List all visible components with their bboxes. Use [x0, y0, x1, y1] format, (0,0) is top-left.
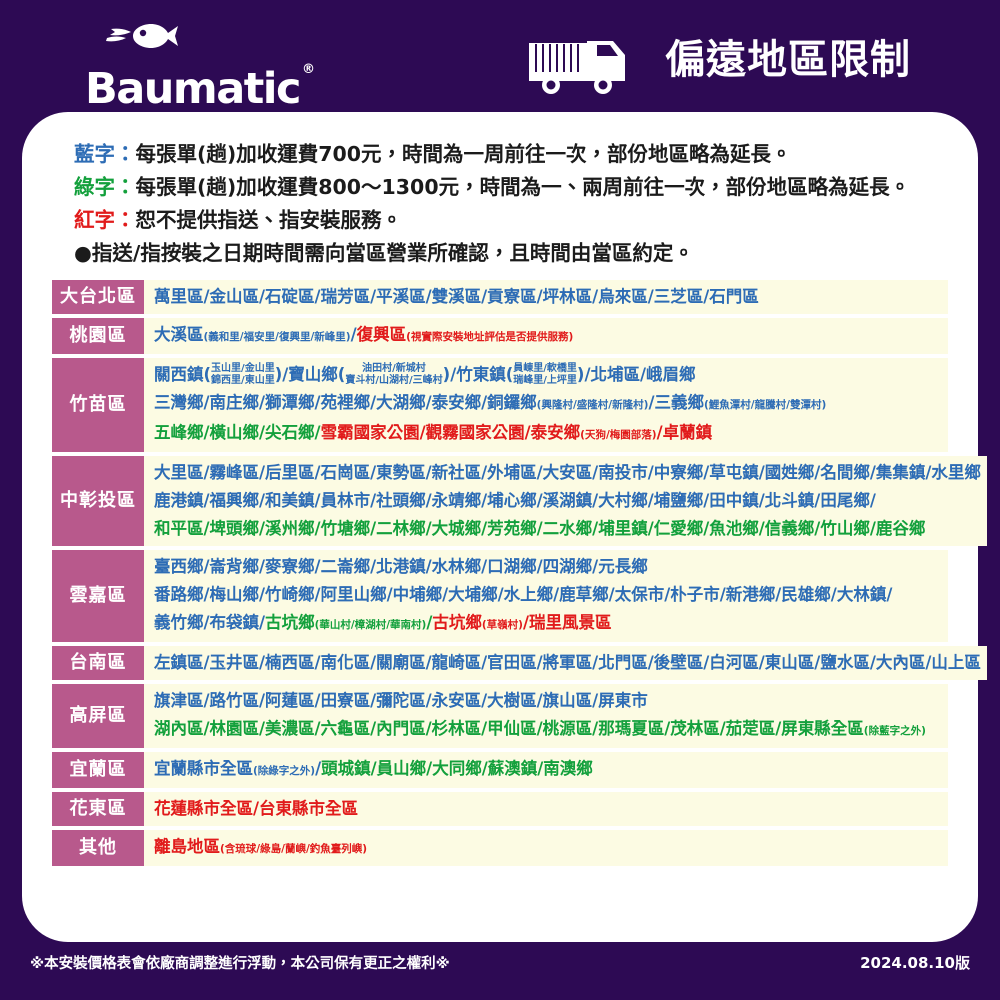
table-row: 大台北區萬里區/金山區/石碇區/瑞芳區/平溪區/雙溪區/貢寮區/坪林區/烏來區/… — [52, 280, 948, 314]
region-label: 桃園區 — [52, 318, 144, 354]
area-names: 義竹鄉/布袋鎮/ — [154, 613, 265, 632]
area-names: 雪霸國家公園/觀霧國家公園/泰安鄉 — [321, 423, 581, 442]
area-line: 和平區/埤頭鄉/溪州鄉/竹塘鄉/二林鄉/大城鄉/芳苑鄉/二水鄉/埔里鎮/仁愛鄉/… — [154, 515, 981, 543]
area-line: 三灣鄉/南庄鄉/獅潭鄉/苑裡鄉/大湖鄉/泰安鄉/銅鑼鄉(興隆村/盛隆村/新隆村)… — [154, 389, 942, 419]
area-note: (興隆村/盛隆村/新隆村) — [537, 399, 649, 411]
village-stack: 員崠里/軟橋里瑞峰里/上坪里 — [513, 363, 577, 386]
region-areas: 萬里區/金山區/石碇區/瑞芳區/平溪區/雙溪區/貢寮區/坪林區/烏來區/三芝區/… — [144, 280, 948, 314]
legend-key: 紅字： — [74, 208, 136, 232]
legend-block: 藍字：每張單(趟)加收運費700元，時間為一周前往一次，部份地區略為延長。綠字：… — [52, 128, 948, 272]
area-line: 臺西鄉/崙背鄉/麥寮鄉/二崙鄉/北港鎮/水林鄉/口湖鄉/四湖鄉/元長鄉 — [154, 553, 942, 581]
legend-line-3: 紅字：恕不提供指送、指安裝服務。 — [74, 204, 948, 237]
legend-line-2: 綠字：每張單(趟)加收運費800～1300元，時間為一、兩周前往一次，部份地區略… — [74, 171, 948, 204]
header-bar: Baumatic ® — [0, 0, 1000, 118]
region-areas: 左鎮區/玉井區/楠西區/南化區/關廟區/龍崎區/官田區/將軍區/北門區/後壁區/… — [144, 646, 987, 680]
region-table: 大台北區萬里區/金山區/石碇區/瑞芳區/平溪區/雙溪區/貢寮區/坪林區/烏來區/… — [52, 280, 948, 866]
area-names: 宜蘭縣市全區 — [154, 759, 253, 778]
legend-key: 藍字： — [74, 142, 136, 166]
area-line: 義竹鄉/布袋鎮/古坑鄉(華山村/樟湖村/華南村)/古坑鄉(草嶺村)/瑞里風景區 — [154, 609, 942, 639]
area-line: 離島地區(含琉球/綠島/蘭嶼/釣魚臺列嶼) — [154, 833, 942, 863]
legend-text: 指送/指按裝之日期時間需向當區營業所確認，且時間由當區約定。 — [92, 241, 694, 265]
area-names: 大里區/霧峰區/后里區/石崗區/東勢區/新社區/外埔區/大安區/南投市/中寮鄉/… — [154, 463, 981, 482]
legend-line-4: ●指送/指按裝之日期時間需向當區營業所確認，且時間由當區約定。 — [74, 237, 948, 270]
village-stack-bottom: 瑞峰里/上坪里 — [513, 375, 577, 387]
fish-icon — [93, 22, 315, 48]
region-label: 大台北區 — [52, 280, 144, 314]
village-stack-bottom: 寶斗村/山湖村/三峰村 — [345, 375, 442, 387]
area-names: 花蓮縣市全區/台東縣市全區 — [154, 799, 358, 818]
table-row: 高屏區旗津區/路竹區/阿蓮區/田寮區/彌陀區/永安區/大樹區/旗山區/屏東市湖內… — [52, 684, 948, 748]
area-line: 大里區/霧峰區/后里區/石崗區/東勢區/新社區/外埔區/大安區/南投市/中寮鄉/… — [154, 459, 981, 487]
area-names: 番路鄉/梅山鄉/竹崎鄉/阿里山鄉/中埔鄉/大埔鄉/水上鄉/鹿草鄉/太保市/朴子市… — [154, 585, 892, 604]
village-stack-bottom: 錦西里/東山里 — [211, 375, 275, 387]
area-names: /三義鄉 — [648, 393, 704, 412]
area-names: 三灣鄉/南庄鄉/獅潭鄉/苑裡鄉/大湖鄉/泰安鄉/銅鑼鄉 — [154, 393, 537, 412]
area-names: 古坑鄉 — [432, 613, 482, 632]
region-label: 中彰投區 — [52, 456, 144, 546]
legend-key: ● — [74, 241, 92, 265]
paren-open: ( — [204, 365, 212, 384]
area-names: /卓蘭鎮 — [657, 423, 713, 442]
region-areas: 宜蘭縣市全區(除綠字之外)/頭城鎮/員山鄉/大同鄉/蘇澳鎮/南澳鄉 — [144, 752, 948, 788]
village-stack-top: 玉山里/金山里 — [211, 363, 275, 375]
region-areas: 大溪區(義和里/福安里/復興里/新峰里)/復興區(視實際安裝地址評估是否提供服務… — [144, 318, 948, 354]
area-line: 宜蘭縣市全區(除綠字之外)/頭城鎮/員山鄉/大同鄉/蘇澳鎮/南澳鄉 — [154, 755, 942, 785]
village-stack: 玉山里/金山里錦西里/東山里 — [211, 363, 275, 386]
area-note: (除藍字之外) — [864, 725, 926, 737]
area-note: (含琉球/綠島/蘭嶼/釣魚臺列嶼) — [220, 843, 367, 855]
legend-text: 每張單(趟)加收運費700元，時間為一周前往一次，部份地區略為延長。 — [136, 142, 792, 166]
area-names: /瑞里風景區 — [523, 613, 612, 632]
area-names: 左鎮區/玉井區/楠西區/南化區/關廟區/龍崎區/官田區/將軍區/北門區/後壁區/… — [154, 653, 981, 672]
area-names: 和平區/埤頭鄉/溪州鄉/竹塘鄉/二林鄉/大城鄉/芳苑鄉/二水鄉/埔里鎮/仁愛鄉/… — [154, 519, 925, 538]
area-names: /竹東鎮 — [450, 365, 506, 384]
table-row: 花東區花蓮縣市全區/台東縣市全區 — [52, 792, 948, 826]
table-row: 中彰投區大里區/霧峰區/后里區/石崗區/東勢區/新社區/外埔區/大安區/南投市/… — [52, 456, 948, 546]
area-names: 離島地區 — [154, 837, 220, 856]
area-line: 大溪區(義和里/福安里/復興里/新峰里)/復興區(視實際安裝地址評估是否提供服務… — [154, 321, 942, 351]
footer-note: ※本安裝價格表會依廠商調整進行浮動，本公司保有更正之權利※ — [30, 952, 450, 973]
area-names: 臺西鄉/崙背鄉/麥寮鄉/二崙鄉/北港鎮/水林鄉/口湖鄉/四湖鄉/元長鄉 — [154, 557, 648, 576]
area-line: 旗津區/路竹區/阿蓮區/田寮區/彌陀區/永安區/大樹區/旗山區/屏東市 — [154, 687, 942, 715]
area-note: (天狗/梅園部落) — [580, 429, 656, 441]
region-label: 台南區 — [52, 646, 144, 680]
region-areas: 旗津區/路竹區/阿蓮區/田寮區/彌陀區/永安區/大樹區/旗山區/屏東市湖內區/林… — [144, 684, 948, 748]
region-areas: 大里區/霧峰區/后里區/石崗區/東勢區/新社區/外埔區/大安區/南投市/中寮鄉/… — [144, 456, 987, 546]
area-line: 鹿港鎮/福興鄉/和美鎮/員林市/社頭鄉/永靖鄉/埔心鄉/溪湖鎮/大村鄉/埔鹽鄉/… — [154, 487, 981, 515]
area-names: 鹿港鎮/福興鄉/和美鎮/員林市/社頭鄉/永靖鄉/埔心鄉/溪湖鎮/大村鄉/埔鹽鄉/… — [154, 491, 876, 510]
area-note: (義和里/福安里/復興里/新峰里) — [204, 331, 351, 343]
region-label: 高屏區 — [52, 684, 144, 748]
area-line: 五峰鄉/橫山鄉/尖石鄉/雪霸國家公園/觀霧國家公園/泰安鄉(天狗/梅園部落)/卓… — [154, 419, 942, 449]
area-note: (視實際安裝地址評估是否提供服務) — [406, 331, 573, 343]
area-line: 左鎮區/玉井區/楠西區/南化區/關廟區/龍崎區/官田區/將軍區/北門區/後壁區/… — [154, 649, 981, 677]
area-names: 旗津區/路竹區/阿蓮區/田寮區/彌陀區/永安區/大樹區/旗山區/屏東市 — [154, 691, 648, 710]
area-line: 關西鎮(玉山里/金山里錦西里/東山里)/寶山鄉(油田村/新城村寶斗村/山湖村/三… — [154, 361, 942, 389]
page-title: 偏遠地區限制 — [665, 36, 911, 84]
area-note: (草嶺村) — [482, 619, 523, 631]
area-names: /寶山鄉 — [282, 365, 338, 384]
area-note: (除綠字之外) — [253, 765, 315, 777]
region-label: 其他 — [52, 830, 144, 866]
area-names: 大溪區 — [154, 325, 204, 344]
area-note: (華山村/樟湖村/華南村) — [315, 619, 427, 631]
table-row: 桃園區大溪區(義和里/福安里/復興里/新峰里)/復興區(視實際安裝地址評估是否提… — [52, 318, 948, 354]
area-line: 花蓮縣市全區/台東縣市全區 — [154, 795, 942, 823]
brand-name: Baumatic — [85, 67, 300, 111]
area-line: 湖內區/林園區/美濃區/六龜區/內門區/杉林區/甲仙區/桃源區/那瑪夏區/茂林區… — [154, 715, 942, 745]
region-areas: 臺西鄉/崙背鄉/麥寮鄉/二崙鄉/北港鎮/水林鄉/口湖鄉/四湖鄉/元長鄉番路鄉/梅… — [144, 550, 948, 642]
area-names: 湖內區/林園區/美濃區/六龜區/內門區/杉林區/甲仙區/桃源區/那瑪夏區/茂林區… — [154, 719, 864, 738]
region-areas: 離島地區(含琉球/綠島/蘭嶼/釣魚臺列嶼) — [144, 830, 948, 866]
legend-text: 每張單(趟)加收運費800～1300元，時間為一、兩周前往一次，部份地區略為延長… — [136, 175, 911, 199]
area-names: /北埔區/峨眉鄉 — [584, 365, 695, 384]
area-names: 關西鎮 — [154, 365, 204, 384]
footer-bar: ※本安裝價格表會依廠商調整進行浮動，本公司保有更正之權利※ 2024.08.10… — [0, 952, 1000, 973]
table-row: 台南區左鎮區/玉井區/楠西區/南化區/關廟區/龍崎區/官田區/將軍區/北門區/後… — [52, 646, 948, 680]
table-row: 竹苗區關西鎮(玉山里/金山里錦西里/東山里)/寶山鄉(油田村/新城村寶斗村/山湖… — [52, 358, 948, 452]
content-card: 藍字：每張單(趟)加收運費700元，時間為一周前往一次，部份地區略為延長。綠字：… — [22, 112, 978, 942]
area-names: 古坑鄉 — [265, 613, 315, 632]
region-label: 花東區 — [52, 792, 144, 826]
area-line: 萬里區/金山區/石碇區/瑞芳區/平溪區/雙溪區/貢寮區/坪林區/烏來區/三芝區/… — [154, 283, 942, 311]
area-note: (鯉魚潭村/龍騰村/雙潭村) — [704, 399, 826, 411]
paren-open: ( — [338, 365, 346, 384]
truck-icon — [527, 35, 647, 95]
village-stack-top: 員崠里/軟橋里 — [513, 363, 577, 375]
region-areas: 花蓮縣市全區/台東縣市全區 — [144, 792, 948, 826]
area-names: 萬里區/金山區/石碇區/瑞芳區/平溪區/雙溪區/貢寮區/坪林區/烏來區/三芝區/… — [154, 287, 759, 306]
poster-page: Baumatic ® — [0, 0, 1000, 1000]
area-line: 番路鄉/梅山鄉/竹崎鄉/阿里山鄉/中埔鄉/大埔鄉/水上鄉/鹿草鄉/太保市/朴子市… — [154, 581, 942, 609]
region-label: 宜蘭區 — [52, 752, 144, 788]
brand-wordmark: Baumatic ® — [85, 48, 315, 111]
registered-mark: ® — [302, 48, 314, 92]
table-row: 宜蘭區宜蘭縣市全區(除綠字之外)/頭城鎮/員山鄉/大同鄉/蘇澳鎮/南澳鄉 — [52, 752, 948, 788]
legend-key: 綠字： — [74, 175, 136, 199]
area-names: 頭城鎮/員山鄉/大同鄉/蘇澳鎮/南澳鄉 — [321, 759, 593, 778]
area-names: 五峰鄉/橫山鄉/尖石鄉/ — [154, 423, 321, 442]
footer-version: 2024.08.10版 — [860, 952, 970, 973]
region-label: 竹苗區 — [52, 358, 144, 452]
region-areas: 關西鎮(玉山里/金山里錦西里/東山里)/寶山鄉(油田村/新城村寶斗村/山湖村/三… — [144, 358, 948, 452]
legend-text: 恕不提供指送、指安裝服務。 — [136, 208, 403, 232]
table-row: 雲嘉區臺西鄉/崙背鄉/麥寮鄉/二崙鄉/北港鎮/水林鄉/口湖鄉/四湖鄉/元長鄉番路… — [52, 550, 948, 642]
village-stack-top: 油田村/新城村 — [345, 363, 442, 375]
region-label: 雲嘉區 — [52, 550, 144, 642]
village-stack: 油田村/新城村寶斗村/山湖村/三峰村 — [345, 363, 442, 386]
legend-line-1: 藍字：每張單(趟)加收運費700元，時間為一周前往一次，部份地區略為延長。 — [74, 138, 948, 171]
table-row: 其他離島地區(含琉球/綠島/蘭嶼/釣魚臺列嶼) — [52, 830, 948, 866]
area-names: 復興區 — [357, 325, 407, 344]
